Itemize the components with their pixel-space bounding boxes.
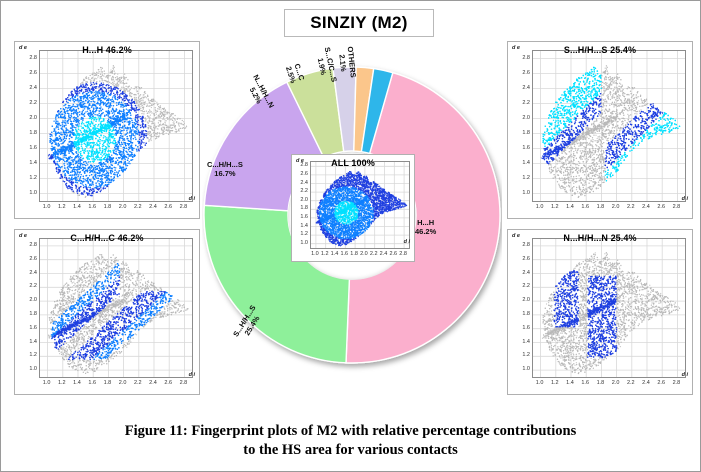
y-axis-tick: 1.4 — [517, 339, 530, 345]
chart-title-box: SINZIY (M2) — [284, 9, 434, 37]
y-axis-tick: 2.0 — [24, 297, 37, 303]
x-axis-tick: 1.2 — [55, 204, 69, 210]
x-axis-tick: 2.0 — [609, 204, 623, 210]
x-axis-tick: 1.4 — [563, 380, 577, 386]
x-axis-tick: 2.2 — [131, 380, 145, 386]
y-axis-tick: 2.0 — [295, 197, 308, 203]
y-axis-tick: 1.4 — [295, 223, 308, 229]
y-axis-tick: 1.6 — [295, 214, 308, 220]
x-axis-tick: 2.8 — [176, 380, 190, 386]
y-axis-tick: 2.4 — [24, 85, 37, 91]
y-axis-tick: 1.8 — [24, 311, 37, 317]
segment-label-h-h: H...H 46.2% — [415, 219, 436, 236]
y-axis-tick: 2.2 — [295, 188, 308, 194]
fingerprint-plot-bottom-left: C...H/H...C 46.2% d e d i 1.01.01.21.21.… — [14, 229, 200, 395]
y-axis-tick: 2.4 — [24, 270, 37, 276]
plot-title-bottom-left: C...H/H...C 46.2% — [15, 233, 199, 243]
x-axis-tick: 1.6 — [578, 380, 592, 386]
y-axis-tick: 2.6 — [24, 70, 37, 76]
x-axis-tick: 2.8 — [396, 251, 410, 257]
x-axis-label-top-right: d i — [682, 196, 688, 202]
x-axis-tick: 1.0 — [533, 380, 547, 386]
fingerprint-plot-center: ALL 100% d e d i 1.01.01.21.21.41.41.61.… — [291, 154, 415, 262]
y-axis-tick: 1.6 — [24, 145, 37, 151]
x-axis-tick: 2.4 — [146, 380, 160, 386]
x-axis-tick: 2.0 — [116, 204, 130, 210]
x-axis-tick: 2.6 — [654, 380, 668, 386]
x-axis-tick: 2.6 — [654, 204, 668, 210]
y-axis-tick: 1.0 — [24, 366, 37, 372]
x-axis-tick: 1.8 — [593, 204, 607, 210]
x-axis-tick: 2.2 — [131, 204, 145, 210]
segment-label-c-h-h-s: C...H/H...S 16.7% — [207, 161, 243, 178]
y-axis-label-top-right: d e — [512, 45, 520, 51]
y-axis-tick: 1.0 — [24, 190, 37, 196]
y-axis-tick: 1.4 — [24, 160, 37, 166]
x-axis-tick: 1.6 — [85, 204, 99, 210]
fingerprint-scatter — [533, 51, 685, 201]
y-axis-tick: 1.4 — [24, 339, 37, 345]
y-axis-tick: 2.6 — [517, 256, 530, 262]
x-axis-tick: 2.4 — [639, 204, 653, 210]
y-axis-tick: 1.0 — [295, 240, 308, 246]
plot-area-top-right — [532, 50, 686, 202]
y-axis-tick: 2.0 — [517, 297, 530, 303]
x-axis-tick: 2.8 — [669, 380, 683, 386]
y-axis-tick: 1.8 — [295, 205, 308, 211]
segment-label-h-h-pct: 46.2% — [415, 228, 436, 237]
x-axis-tick: 2.4 — [146, 204, 160, 210]
x-axis-tick: 2.6 — [161, 204, 175, 210]
x-axis-tick: 2.8 — [176, 204, 190, 210]
plot-title-bottom-right: N...H/H...N 25.4% — [508, 233, 692, 243]
y-axis-tick: 1.2 — [24, 352, 37, 358]
x-axis-tick: 2.2 — [624, 380, 638, 386]
y-axis-tick: 1.0 — [517, 190, 530, 196]
y-axis-tick: 2.6 — [295, 171, 308, 177]
x-axis-tick: 1.2 — [548, 204, 562, 210]
plot-title-top-left: H...H 46.2% — [15, 45, 199, 55]
y-axis-tick: 2.2 — [24, 100, 37, 106]
y-axis-tick: 2.0 — [517, 115, 530, 121]
x-axis-tick: 1.4 — [70, 204, 84, 210]
fingerprint-plot-top-left: H...H 46.2% d e d i 1.01.01.21.21.41.41.… — [14, 41, 200, 219]
x-axis-tick: 1.6 — [85, 380, 99, 386]
x-axis-tick: 1.4 — [563, 204, 577, 210]
y-axis-tick: 2.0 — [24, 115, 37, 121]
segment-label-others: OTHERS 2.1% — [336, 46, 356, 79]
y-axis-tick: 2.8 — [517, 55, 530, 61]
contact-contribution-donut-chart: ALL 100% d e d i 1.01.01.21.21.41.41.61.… — [197, 37, 507, 395]
y-axis-tick: 2.2 — [517, 100, 530, 106]
y-axis-tick: 1.2 — [24, 175, 37, 181]
fingerprint-plot-top-right: S...H/H...S 25.4% d e d i 1.01.01.21.21.… — [507, 41, 693, 219]
segment-label-c-h-h-s-pct: 16.7% — [207, 170, 243, 179]
x-axis-tick: 2.6 — [161, 380, 175, 386]
y-axis-tick: 2.4 — [295, 180, 308, 186]
x-axis-tick: 1.0 — [40, 380, 54, 386]
x-axis-tick: 2.0 — [116, 380, 130, 386]
y-axis-tick: 2.6 — [517, 70, 530, 76]
figure-caption: Figure 11: Fingerprint plots of M2 with … — [31, 422, 670, 461]
y-axis-tick: 1.8 — [517, 130, 530, 136]
plot-area-bottom-right — [532, 238, 686, 378]
x-axis-tick: 1.8 — [593, 380, 607, 386]
y-axis-tick: 1.2 — [295, 231, 308, 237]
y-axis-label-bottom-right: d e — [512, 233, 520, 239]
plot-title-center: ALL 100% — [292, 158, 414, 168]
figure-caption-line2: to the HS area for various contacts — [31, 441, 670, 461]
fingerprint-scatter — [40, 51, 192, 201]
y-axis-label-top-left: d e — [19, 45, 27, 51]
y-axis-tick: 1.2 — [517, 175, 530, 181]
y-axis-tick: 1.2 — [517, 352, 530, 358]
y-axis-tick: 2.8 — [24, 55, 37, 61]
y-axis-tick: 2.4 — [517, 270, 530, 276]
x-axis-tick: 1.0 — [533, 204, 547, 210]
plot-area-center — [310, 161, 410, 249]
y-axis-tick: 1.0 — [517, 366, 530, 372]
y-axis-tick: 2.4 — [517, 85, 530, 91]
x-axis-label-bottom-left: d i — [189, 372, 195, 378]
x-axis-tick: 1.8 — [100, 380, 114, 386]
x-axis-tick: 1.6 — [578, 204, 592, 210]
page-title: SINZIY (M2) — [310, 13, 407, 33]
y-axis-tick: 2.2 — [24, 283, 37, 289]
x-axis-tick: 1.2 — [55, 380, 69, 386]
x-axis-tick: 2.8 — [669, 204, 683, 210]
y-axis-tick: 1.8 — [517, 311, 530, 317]
x-axis-tick: 1.4 — [70, 380, 84, 386]
y-axis-tick: 1.6 — [24, 325, 37, 331]
fingerprint-scatter — [311, 162, 409, 248]
y-axis-tick: 1.6 — [517, 325, 530, 331]
fingerprint-scatter — [40, 239, 192, 377]
figure-caption-line1: Figure 11: Fingerprint plots of M2 with … — [31, 422, 670, 442]
plot-title-top-right: S...H/H...S 25.4% — [508, 45, 692, 55]
x-axis-tick: 2.4 — [639, 380, 653, 386]
y-axis-label-bottom-left: d e — [19, 233, 27, 239]
x-axis-tick: 1.0 — [40, 204, 54, 210]
x-axis-label-center: d i — [404, 239, 410, 245]
y-axis-tick: 1.6 — [517, 145, 530, 151]
plot-area-top-left — [39, 50, 193, 202]
fingerprint-scatter — [533, 239, 685, 377]
plot-area-bottom-left — [39, 238, 193, 378]
y-axis-tick: 2.6 — [24, 256, 37, 262]
y-axis-tick: 1.8 — [24, 130, 37, 136]
y-axis-label-center: d e — [296, 158, 304, 164]
x-axis-tick: 2.0 — [609, 380, 623, 386]
x-axis-tick: 1.2 — [548, 380, 562, 386]
x-axis-label-bottom-right: d i — [682, 372, 688, 378]
x-axis-label-top-left: d i — [189, 196, 195, 202]
y-axis-tick: 2.2 — [517, 283, 530, 289]
figure-root: SINZIY (M2) H...H 46.2% d e d i 1.01.01.… — [1, 1, 700, 471]
fingerprint-plot-bottom-right: N...H/H...N 25.4% d e d i 1.01.01.21.21.… — [507, 229, 693, 395]
x-axis-tick: 1.8 — [100, 204, 114, 210]
y-axis-tick: 1.4 — [517, 160, 530, 166]
x-axis-tick: 2.2 — [624, 204, 638, 210]
